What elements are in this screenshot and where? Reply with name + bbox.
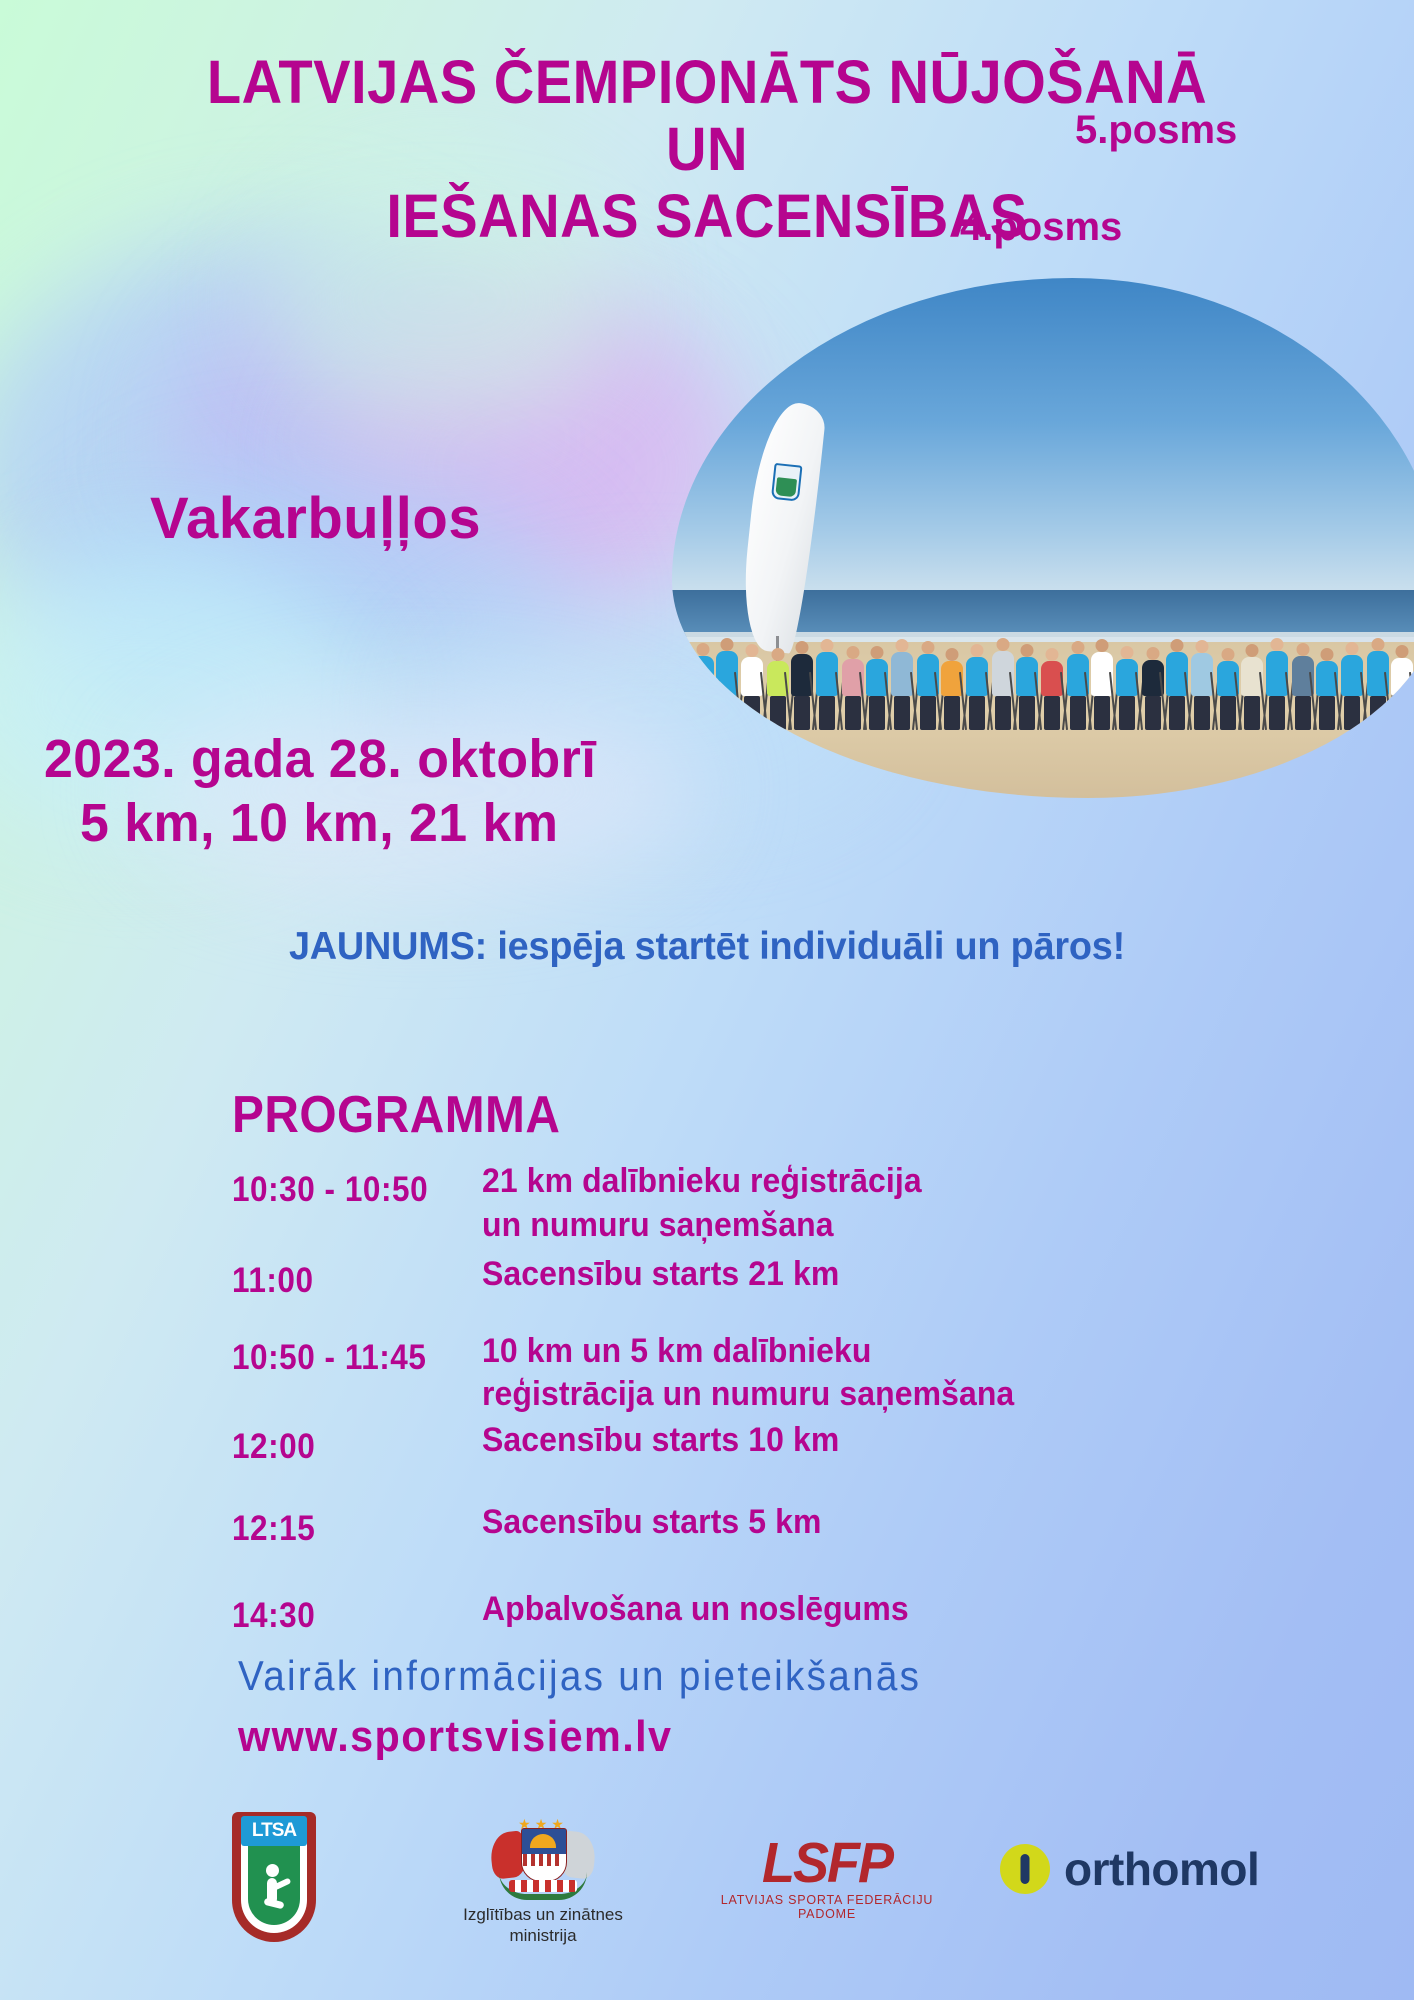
photo-person-head [1147, 647, 1160, 660]
photo-person-head [896, 639, 909, 652]
photo-person-legs [995, 696, 1011, 730]
programme-row: 12:00 Sacensību starts 10 km [232, 1419, 1282, 1476]
programme-time: 14:30 [232, 1588, 457, 1645]
photo-person-legs [1019, 696, 1035, 730]
photo-person-head [997, 638, 1010, 651]
flag-logo-badge [771, 463, 803, 502]
photo-person-legs [695, 696, 711, 730]
photo-person-head [697, 643, 710, 656]
headline-line-1: LATVIJAS ČEMPIONĀTS NŪJOŠANĀ [57, 52, 1358, 113]
photo-person-legs [894, 696, 910, 730]
website-link[interactable]: www.sportsvisiem.lv [238, 1712, 672, 1762]
watercolor-splash-pale [140, 690, 700, 890]
photo-person-head [1072, 641, 1085, 654]
photo-person-legs [794, 696, 810, 730]
photo-person-head [1196, 640, 1209, 653]
photo-person-legs [819, 696, 835, 730]
programme-time: 12:15 [232, 1501, 457, 1558]
programme-time: 10:50 - 11:45 [232, 1330, 457, 1387]
programme-desc: Sacensību starts 21 km [482, 1253, 839, 1297]
programme-row: 10:30 - 10:50 21 km dalībnieku reģistrāc… [232, 1160, 1282, 1247]
programme-row: 10:50 - 11:45 10 km un 5 km dalībnieku r… [232, 1330, 1282, 1417]
lsfp-wordmark: LSFP [712, 1835, 942, 1892]
photo-person-head [1246, 644, 1259, 657]
ministry-logo: ★★★ Izglītības un zinātnes ministrija [438, 1814, 648, 1947]
programme-desc-line2: reģistrācija un numuru saņemšana [482, 1373, 1014, 1417]
event-location: Vakarbuļļos [150, 485, 481, 552]
programme-row: 11:00 Sacensību starts 21 km [232, 1253, 1282, 1310]
photo-person-legs [944, 696, 960, 730]
photo-person-legs [719, 696, 735, 730]
photo-person-legs [1269, 696, 1285, 730]
photo-person-head [1271, 638, 1284, 651]
headline-line-3: IEŠANAS SACENSĪBAS [57, 186, 1358, 247]
programme-time: 12:00 [232, 1419, 457, 1476]
photo-person-head [1396, 645, 1409, 658]
programme-time: 10:30 - 10:50 [232, 1160, 457, 1219]
runner-leg [263, 1898, 284, 1910]
photo-person-legs [1220, 696, 1236, 730]
photo-person-head [1096, 639, 1109, 652]
photo-person-legs [744, 696, 760, 730]
programme-title: PROGRAMMA [232, 1085, 560, 1145]
photo-person-legs [1119, 696, 1135, 730]
photo-person-head [772, 648, 785, 661]
photo-person-head [1021, 644, 1034, 657]
programme-row: 14:30 Apbalvošana un noslēgums [232, 1588, 1282, 1645]
photo-person-legs [1145, 696, 1161, 730]
programme-desc-line2: un numuru saņemšana [482, 1204, 922, 1248]
photo-person-legs [1169, 696, 1185, 730]
photo-person-legs [1370, 696, 1386, 730]
event-photo [672, 278, 1414, 798]
photo-person-head [922, 641, 935, 654]
photo-person-head [746, 644, 759, 657]
photo-person-legs [1194, 696, 1210, 730]
ltsa-runner-icon [259, 1864, 289, 1920]
programme-time: 11:00 [232, 1253, 457, 1310]
photo-person-head [1321, 648, 1334, 661]
photo-crowd [692, 566, 1414, 696]
photo-person-head [971, 644, 984, 657]
ltsa-wordmark: LTSA [241, 1816, 307, 1846]
photo-person-head [1297, 643, 1310, 656]
photo-person-head [796, 641, 809, 654]
programme-desc: Sacensību starts 10 km [482, 1419, 839, 1463]
programme-desc: Sacensību starts 5 km [482, 1501, 822, 1545]
photo-person-legs [845, 696, 861, 730]
news-banner: JAUNUMS: iespēja startēt individuāli un … [21, 925, 1393, 969]
photo-person-legs [770, 696, 786, 730]
watercolor-splash-purple [170, 250, 690, 630]
watercolor-splash-blue [0, 186, 558, 713]
photo-person-legs [969, 696, 985, 730]
programme-desc: Apbalvošana un noslēgums [482, 1588, 909, 1632]
photo-person-legs [1344, 696, 1360, 730]
programme-desc-line1: 21 km dalībnieku reģistrācija [482, 1162, 922, 1200]
photo-person-legs [920, 696, 936, 730]
ministry-name-line1: Izglītības un zinātnes [438, 1904, 648, 1925]
photo-person-legs [1044, 696, 1060, 730]
lsfp-subtitle: LATVIJAS SPORTA FEDERĀCIJU PADOME [712, 1893, 942, 1921]
orthomol-dot-icon [1000, 1844, 1050, 1894]
photo-person-head [871, 646, 884, 659]
lsfp-logo: LSFP LATVIJAS SPORTA FEDERĀCIJU PADOME [712, 1836, 942, 1921]
photo-person-head [1121, 646, 1134, 659]
photo-person-head [946, 648, 959, 661]
photo-person-head [1046, 648, 1059, 661]
orthomol-wordmark: orthomol [1064, 1842, 1259, 1896]
ltsa-logo: LTSA [232, 1812, 316, 1942]
photo-person-legs [1244, 696, 1260, 730]
programme-desc: 21 km dalībnieku reģistrācija un numuru … [482, 1160, 922, 1247]
photo-person-head [821, 639, 834, 652]
sponsor-logos: LTSA ★★★ Izglītības un zinātnes [0, 1806, 1414, 1986]
photo-person-legs [1070, 696, 1086, 730]
programme-list: 10:30 - 10:50 21 km dalībnieku reģistrāc… [232, 1160, 1282, 1647]
event-date: 2023. gada 28. oktobrī [44, 728, 596, 790]
programme-desc-line1: 10 km un 5 km dalībnieku [482, 1332, 871, 1370]
photo-person-legs [1094, 696, 1110, 730]
programme-desc: 10 km un 5 km dalībnieku reģistrācija un… [482, 1330, 1014, 1417]
runner-head [266, 1864, 279, 1877]
more-info-text: Vairāk informācijas un pieteikšanās [238, 1652, 921, 1700]
ministry-name: Izglītības un zinātnes ministrija [438, 1904, 648, 1947]
photo-person-legs [1295, 696, 1311, 730]
event-distances: 5 km, 10 km, 21 km [80, 792, 558, 854]
photo-person-legs [869, 696, 885, 730]
latvia-coat-of-arms-icon: ★★★ [483, 1814, 603, 1900]
photo-person-head [847, 646, 860, 659]
photo-person-head [721, 638, 734, 651]
photo-person-legs [1394, 696, 1410, 730]
photo-person-head [1222, 648, 1235, 661]
orthomol-logo: orthomol [1000, 1842, 1259, 1896]
coa-ribbon [509, 1880, 577, 1892]
photo-person-head [1171, 639, 1184, 652]
coa-wave [523, 1854, 563, 1866]
poster-canvas: LATVIJAS ČEMPIONĀTS NŪJOŠANĀ UN IEŠANAS … [0, 0, 1414, 2000]
photo-person-head [1346, 642, 1359, 655]
ministry-name-line2: ministrija [438, 1925, 648, 1946]
badge-stage-5: 5.posms [1075, 108, 1237, 153]
badge-stage-4: 4.posms [960, 205, 1122, 250]
photo-person-legs [1319, 696, 1335, 730]
photo-person-head [1372, 638, 1385, 651]
programme-row: 12:15 Sacensību starts 5 km [232, 1501, 1282, 1558]
